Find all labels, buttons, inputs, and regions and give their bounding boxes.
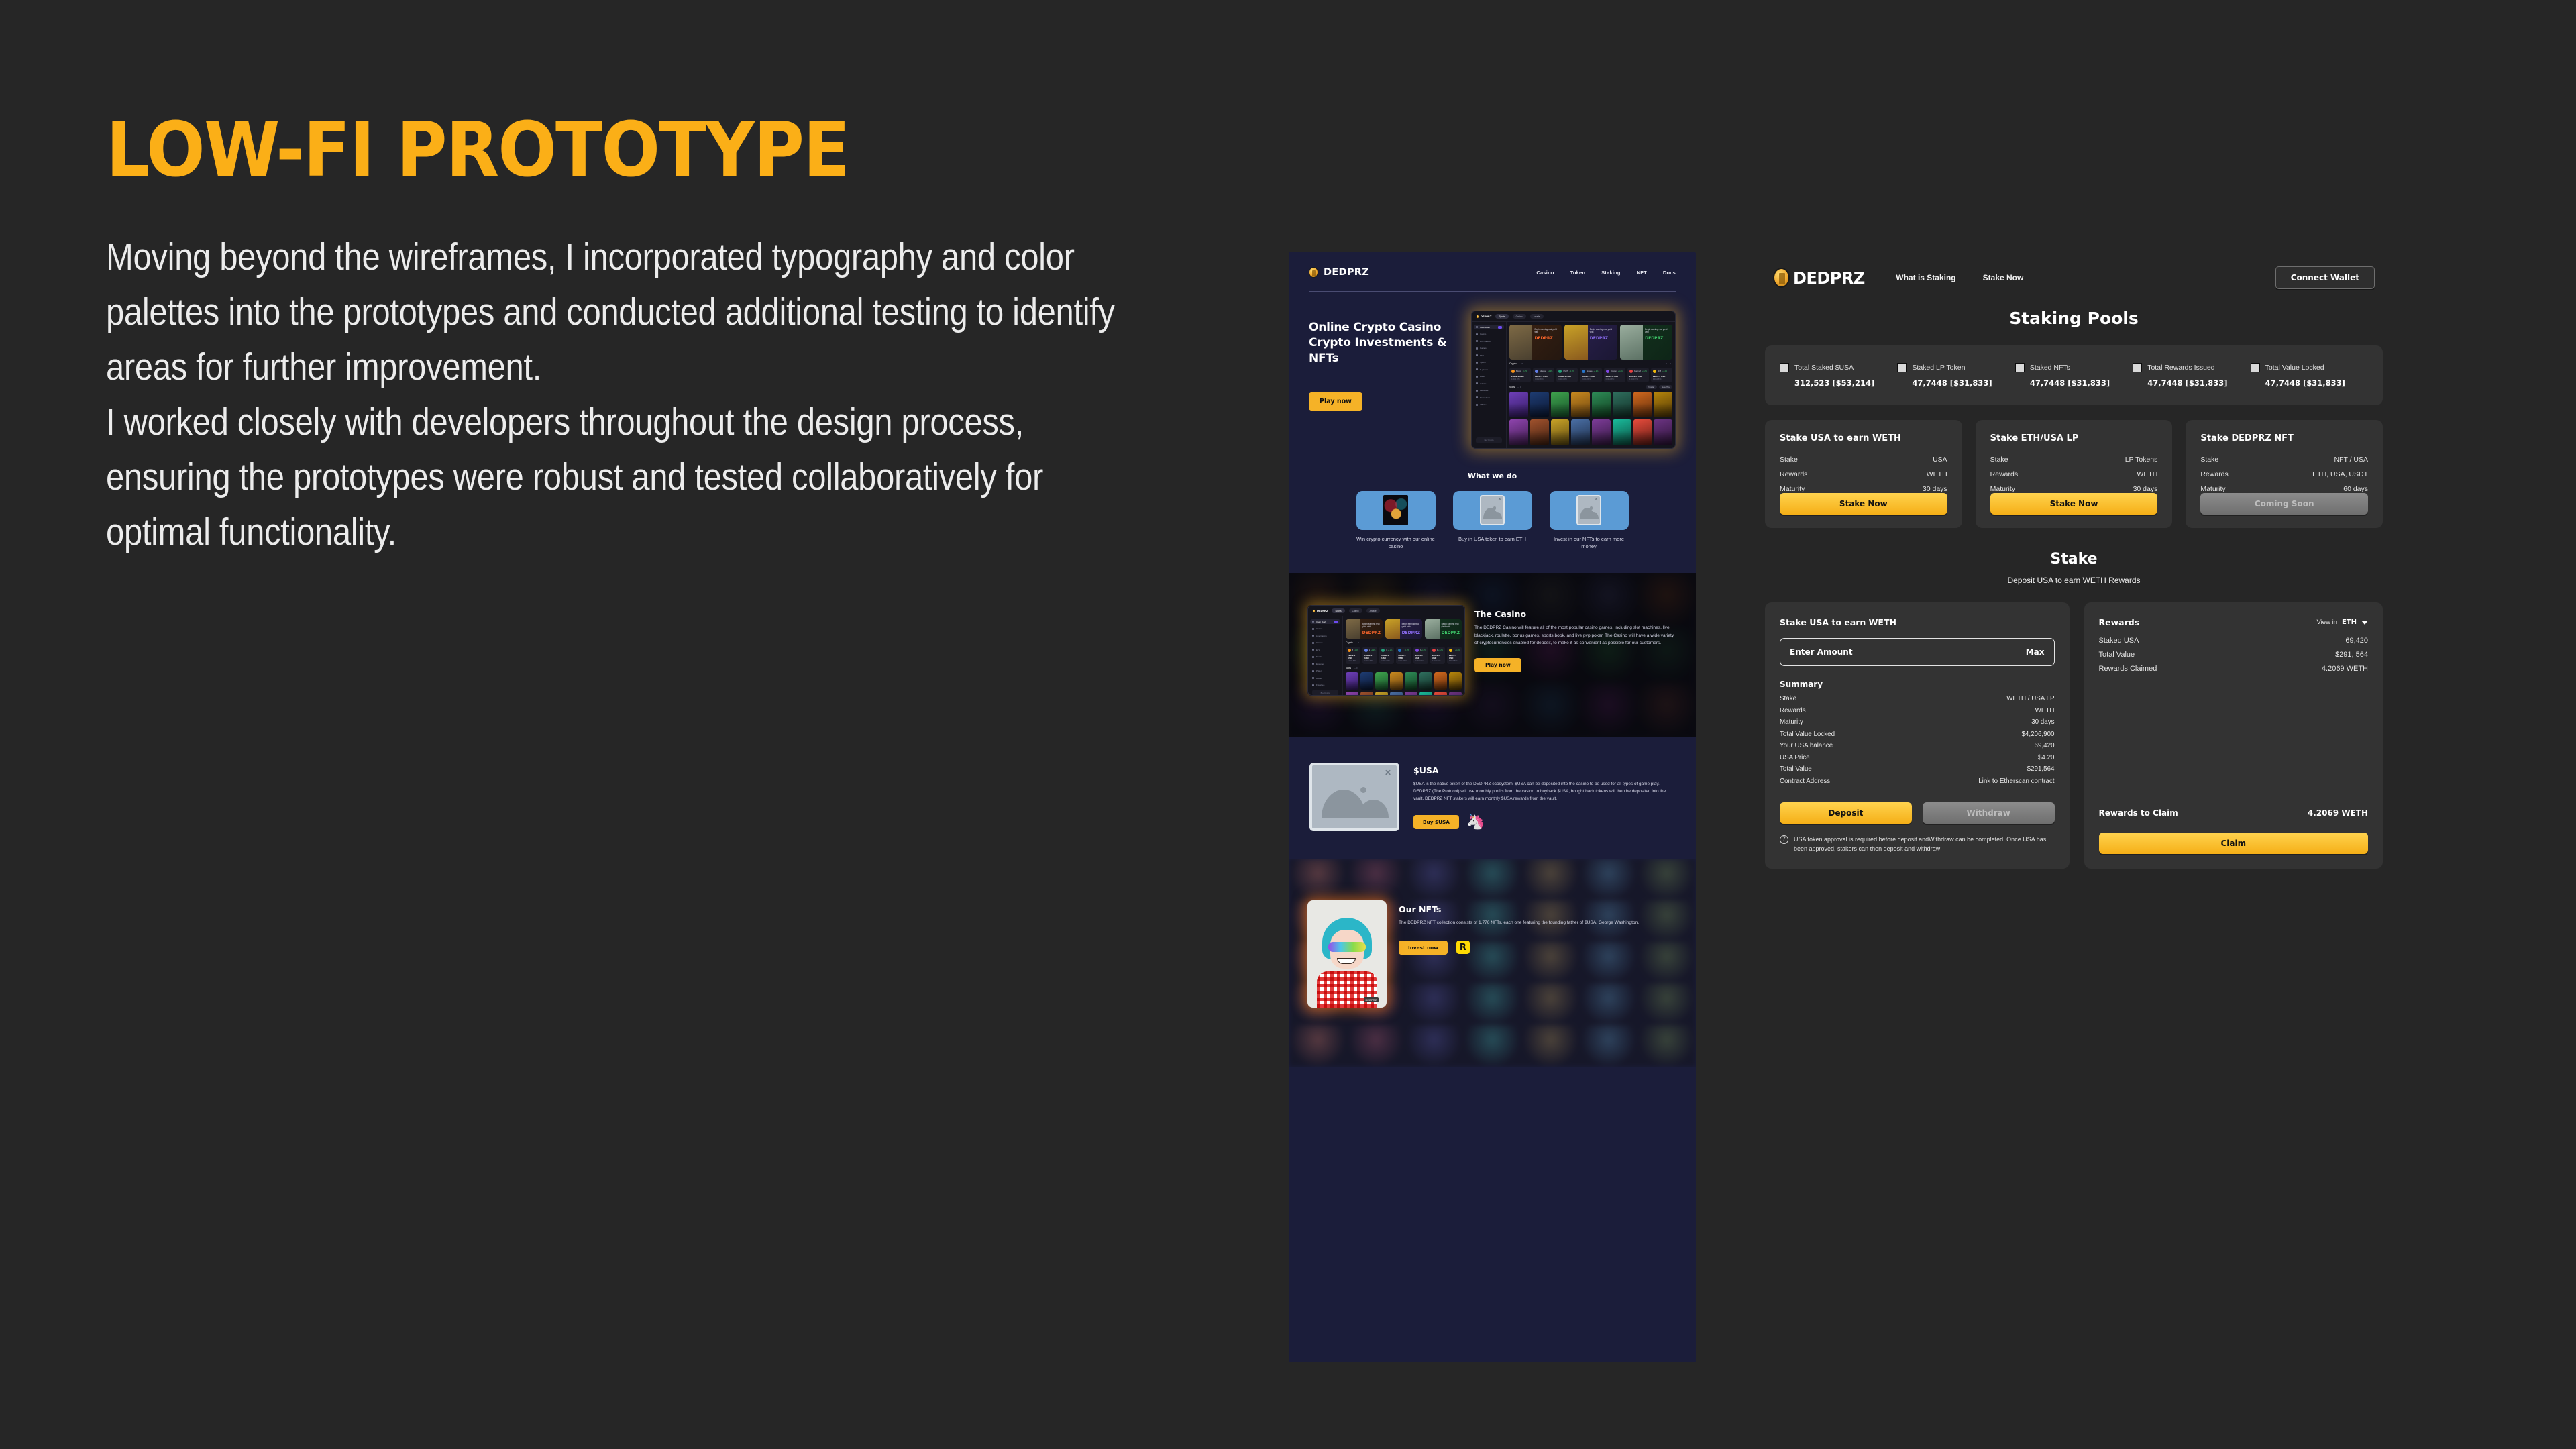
buy-usa-button[interactable]: Buy $USA [1413, 815, 1459, 829]
nav-item-casino[interactable]: Casino [1536, 270, 1554, 276]
casino-photo-icon [1383, 495, 1408, 525]
pool-stake-now-button[interactable]: Stake Now [1990, 493, 2158, 515]
image-placeholder-icon: ✕ [1480, 495, 1505, 525]
shot-brand: DEDPRZ [1481, 315, 1491, 318]
rarible-icon[interactable]: R [1456, 941, 1470, 954]
pool-title: Stake DEDPRZ NFT [2200, 433, 2368, 443]
stat-checkbox-icon [1897, 363, 1907, 372]
slide-text-column: LOW-FI PROTOTYPE Moving beyond the wiref… [106, 113, 1152, 559]
nft-artwork: DEDPRZ [1307, 900, 1387, 1008]
what-we-do-item-token: ✕ Buy in USA token to earn ETH [1453, 491, 1532, 551]
hero-play-now-button[interactable]: Play now [1309, 392, 1362, 411]
nfts-title: Our NFTs [1399, 904, 1677, 914]
dedprz-coin-icon [1309, 267, 1318, 278]
crypto-card: BNB+1.2%29612.1 USD0.0014 BTC [1651, 368, 1672, 382]
nft-background-tile [1405, 1025, 1463, 1067]
slot-tile [1346, 692, 1358, 696]
slot-tile [1434, 692, 1447, 696]
usa-body: $USA is the native token of the DEDPRZ e… [1413, 780, 1677, 802]
nav-item-token[interactable]: Token [1570, 270, 1586, 276]
slide-paragraph-1: Moving beyond the wireframes, I incorpor… [106, 229, 1122, 394]
image-placeholder-icon: ✕ [1309, 763, 1399, 831]
help-icon: ? [1780, 835, 1788, 844]
stat-total-rewards-issued: Total Rewards Issued 47,7448 [$31,833] [2133, 363, 2250, 388]
slot-tile [1509, 392, 1528, 418]
invest-now-button[interactable]: Invest now [1399, 941, 1448, 955]
what-we-do-section: What we do Win crypto currency with our … [1289, 449, 1696, 551]
pool-card-usa-weth: Stake USA to earn WETH StakeUSA RewardsW… [1765, 420, 1962, 528]
landing-logo[interactable]: DEDPRZ [1309, 267, 1369, 278]
summary-list: StakeWETH / USA LP RewardsWETH Maturity3… [1780, 695, 2055, 785]
rewards-panel: Rewards View in ETH Staked USA69,420 Tot… [2084, 602, 2383, 869]
nav-item-stake-now[interactable]: Stake Now [1983, 273, 2024, 282]
crypto-card: USDT+1.2%29612.1 USD0.0014 BTC [1379, 647, 1394, 664]
summary-title: Summary [1780, 680, 2055, 689]
pool-card-dedprz-nft: Stake DEDPRZ NFT StakeNFT / USA RewardsE… [2186, 420, 2383, 528]
slot-tile [1592, 419, 1611, 445]
slot-tile [1613, 392, 1631, 418]
usa-title: $USA [1413, 765, 1677, 775]
deposit-button[interactable]: Deposit [1780, 802, 1912, 824]
pool-title: Stake ETH/USA LP [1990, 433, 2158, 443]
crypto-card: Polygon+1.2%29612.1 USD0.0014 BTC [1604, 368, 1625, 382]
landing-page-mockup: DEDPRZ Casino Token Staking NFT Docs Onl… [1289, 252, 1696, 1362]
chevron-down-icon [2361, 621, 2368, 625]
slot-tile [1509, 419, 1528, 445]
slot-tile [1419, 692, 1432, 696]
casino-title: The Casino [1474, 609, 1677, 619]
slot-tile [1390, 672, 1403, 690]
what-we-do-title: What we do [1309, 472, 1676, 480]
image-placeholder-icon: ✕ [1576, 495, 1601, 525]
crypto-card: Solana+1.2%29612.1 USD0.0014 BTC [1580, 368, 1601, 382]
what-we-do-caption: Buy in USA token to earn ETH [1453, 535, 1532, 543]
pool-card-eth-usa-lp: Stake ETH/USA LP StakeLP Tokens RewardsW… [1976, 420, 2173, 528]
slot-tile [1633, 419, 1652, 445]
nft-background-tile [1463, 1025, 1521, 1067]
stat-staked-lp-token: Staked LP Token 47,7448 [$31,833] [1897, 363, 2015, 388]
crypto-card: Avalanche+1.2%29612.1 USD0.0014 BTC [1430, 647, 1445, 664]
what-we-do-item-casino: Win crypto currency with our online casi… [1356, 491, 1436, 551]
our-nfts-section: DEDPRZ Our NFTs The DEDPRZ NFT collectio… [1289, 859, 1696, 1067]
crypto-card: Bitcoin+1.2%29612.1 USD0.0014 BTC [1509, 368, 1531, 382]
slot-tile [1405, 692, 1417, 696]
slot-tile [1375, 672, 1388, 690]
slot-tile [1551, 392, 1570, 418]
casino-body: The DEDPRZ Casino will feature all of th… [1474, 624, 1677, 647]
slot-tile [1405, 672, 1417, 690]
nft-background-tile [1521, 1025, 1580, 1067]
nav-item-nft[interactable]: NFT [1637, 270, 1647, 276]
claim-button[interactable]: Claim [2099, 833, 2368, 854]
crypto-card: Polygon+1.2%29612.1 USD0.0014 BTC [1413, 647, 1428, 664]
nav-item-docs[interactable]: Docs [1663, 270, 1676, 276]
pool-coming-soon-button: Coming Soon [2200, 493, 2368, 515]
amount-input[interactable]: Enter Amount Max [1780, 638, 2055, 666]
slot-tile [1360, 672, 1373, 690]
slot-tile [1449, 692, 1462, 696]
stat-checkbox-icon [2133, 363, 2142, 372]
crypto-card: Ethereum+1.2%29612.1 USD0.0014 BTC [1533, 368, 1554, 382]
nft-background-tile [1347, 1025, 1405, 1067]
crypto-card: USDT+1.2%29612.1 USD0.0014 BTC [1556, 368, 1578, 382]
rewards-title: Rewards [2099, 617, 2140, 627]
etherscan-link[interactable]: Link to Etherscan contract [1978, 777, 2054, 785]
what-we-do-item-nft: ✕ Invest in our NFTs to earn more money [1550, 491, 1629, 551]
stat-checkbox-icon [1780, 363, 1789, 372]
crypto-card: Solana+1.2%29612.1 USD0.0014 BTC [1396, 647, 1411, 664]
usa-token-section: ✕ $USA $USA is the native token of the D… [1289, 737, 1696, 832]
slot-tile [1592, 392, 1611, 418]
landing-hero: Online Crypto Casino Crypto Investments … [1289, 292, 1696, 449]
slot-tile [1360, 692, 1373, 696]
shot-tab-sports: Sports [1495, 314, 1508, 319]
crypto-card: Avalanche+1.2%29612.1 USD0.0014 BTC [1627, 368, 1649, 382]
nft-background-tile [1580, 1025, 1638, 1067]
slot-tile [1530, 392, 1549, 418]
view-in-label: View in [2317, 619, 2337, 626]
slot-tile [1449, 672, 1462, 690]
shot-tab-casino: Casino [1513, 314, 1526, 319]
approval-note: USA token approval is required before de… [1794, 835, 2055, 854]
max-button[interactable]: Max [2026, 647, 2045, 657]
stake-section-title: Stake [1748, 551, 2400, 568]
hero-app-screenshot: DEDPRZ Sports Casino Arcade Cash Rush Ca… [1471, 311, 1676, 449]
casino-section: DEDPRZ Sports Casino Arcade Cash Rush Ca… [1289, 573, 1696, 737]
slide-paragraph-2: I worked closely with developers through… [106, 394, 1122, 559]
unicorn-icon[interactable]: 🦄 [1468, 814, 1483, 830]
view-in-value: ETH [2342, 619, 2357, 626]
slot-tile [1654, 392, 1672, 418]
stake-panel-title: Stake USA to earn WETH [1780, 617, 2055, 627]
connect-wallet-button[interactable]: Connect Wallet [2275, 266, 2375, 289]
landing-navbar: DEDPRZ Casino Token Staking NFT Docs [1289, 252, 1696, 283]
shot-sidebar: Cash Rush Casino Live Casino Games ETH S… [1472, 322, 1507, 448]
slot-tile [1375, 692, 1388, 696]
rewards-to-claim-label: Rewards to Claim [2099, 808, 2178, 818]
stake-panel: Stake USA to earn WETH Enter Amount Max … [1765, 602, 2070, 869]
slot-tile [1390, 692, 1403, 696]
pool-stake-now-button[interactable]: Stake Now [1780, 493, 1947, 515]
slot-tile [1419, 672, 1432, 690]
rewards-to-claim-value: 4.2069 WETH [2308, 808, 2368, 818]
crypto-card: Bitcoin+1.2%29612.1 USD0.0014 BTC [1346, 647, 1360, 664]
stat-total-staked-usa: Total Staked $USA 312,523 [$53,214] [1780, 363, 1897, 388]
nft-background-tile [1638, 1025, 1696, 1067]
landing-nav-links: Casino Token Staking NFT Docs [1536, 270, 1676, 276]
withdraw-button[interactable]: Withdraw [1923, 802, 2055, 824]
slot-tile [1613, 419, 1631, 445]
staking-pools-title: Staking Pools [1748, 309, 2400, 328]
slot-tile [1530, 419, 1549, 445]
pool-title: Stake USA to earn WETH [1780, 433, 1947, 443]
crypto-card: Ethereum+1.2%29612.1 USD0.0014 BTC [1362, 647, 1377, 664]
stat-checkbox-icon [2015, 363, 2025, 372]
staking-dashboard-mockup: DEDPRZ What is Staking Stake Now Connect… [1748, 252, 2400, 1087]
slide-body-copy: Moving beyond the wireframes, I incorpor… [106, 229, 1122, 559]
crypto-card: BNB+1.2%29612.1 USD0.0014 BTC [1447, 647, 1462, 664]
slot-tile [1571, 392, 1590, 418]
nfts-body: The DEDPRZ NFT collection consists of 1,… [1399, 919, 1677, 926]
casino-app-screenshot: DEDPRZ Sports Casino Arcade Cash Rush Ca… [1307, 605, 1465, 696]
page-title: LOW-FI PROTOTYPE [106, 113, 1069, 188]
what-we-do-caption: Win crypto currency with our online casi… [1356, 535, 1436, 551]
staking-logo[interactable]: DEDPRZ [1773, 268, 1868, 288]
casino-play-now-button[interactable]: Play now [1474, 658, 1521, 672]
staking-navbar: DEDPRZ What is Staking Stake Now Connect… [1748, 252, 2400, 287]
stat-total-value-locked: Total Value Locked 47,7448 [$31,833] [2251, 363, 2368, 388]
landing-brand-name: DEDPRZ [1324, 267, 1369, 278]
rewards-to-claim-row: Rewards to Claim 4.2069 WETH [2099, 808, 2368, 818]
slot-tile [1346, 672, 1358, 690]
stat-staked-nfts: Staked NFTs 47,7448 [$31,833] [2015, 363, 2133, 388]
slot-tile [1571, 419, 1590, 445]
nft-background-tile [1289, 1025, 1347, 1067]
hero-headline: Online Crypto Casino Crypto Investments … [1309, 320, 1464, 366]
slot-tile [1434, 672, 1447, 690]
view-in-currency-select[interactable]: View in ETH [2317, 619, 2368, 626]
what-we-do-caption: Invest in our NFTs to earn more money [1550, 535, 1629, 551]
slot-tile [1654, 419, 1672, 445]
nav-item-staking[interactable]: Staking [1601, 270, 1621, 276]
shot-tab-arcade: Arcade [1530, 314, 1544, 319]
stake-section-subtitle: Deposit USA to earn WETH Rewards [1748, 576, 2400, 585]
staking-brand-name: DEDPRZ [1793, 268, 1865, 288]
slot-tile [1633, 392, 1652, 418]
nav-item-what-is-staking[interactable]: What is Staking [1896, 273, 1955, 282]
amount-placeholder: Enter Amount [1790, 647, 1853, 657]
slot-tile [1551, 419, 1570, 445]
stat-checkbox-icon [2251, 363, 2260, 372]
staking-stats-bar: Total Staked $USA 312,523 [$53,214] Stak… [1765, 345, 2383, 405]
dedprz-coin-icon [1773, 268, 1790, 288]
